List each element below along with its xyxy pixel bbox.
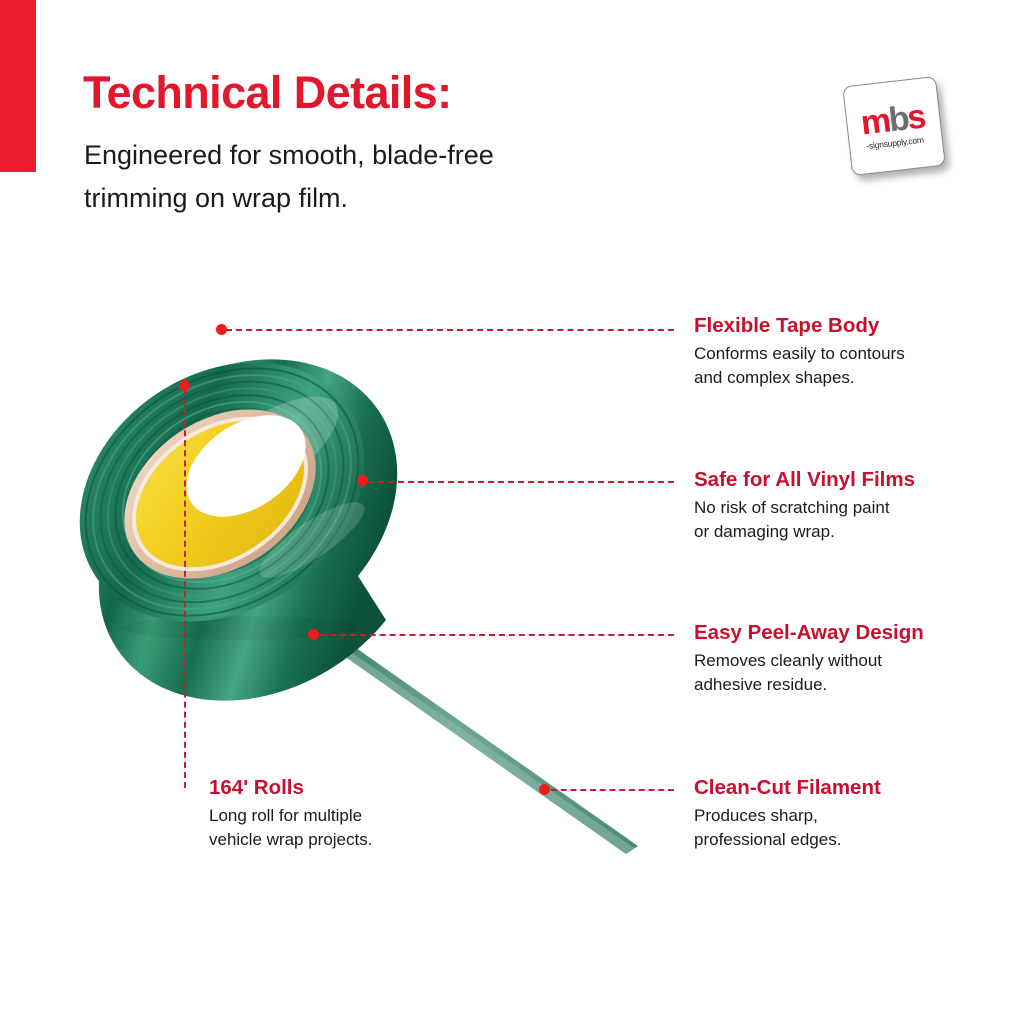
logo-letter-s: s: [905, 97, 926, 137]
callout-body: No risk of scratching paint or damaging …: [694, 496, 994, 544]
page-subtitle: Engineered for smooth, blade-free trimmi…: [84, 134, 604, 219]
leader-dot-safe-for-all-vinyl-films: [357, 475, 368, 486]
leader-dot-164-rolls: [179, 380, 190, 391]
callout-body: Long roll for multiple vehicle wrap proj…: [209, 804, 509, 852]
callout-body-line-1: Produces sharp,: [694, 804, 994, 828]
subtitle-line-2: trimming on wrap film.: [84, 177, 604, 220]
callout-flexible-tape-body: Flexible Tape Body Conforms easily to co…: [694, 314, 994, 390]
callout-body-line-2: and complex shapes.: [694, 366, 994, 390]
callout-body-line-2: professional edges.: [694, 828, 994, 852]
callout-title: Flexible Tape Body: [694, 314, 994, 339]
callout-safe-for-all-vinyl-films: Safe for All Vinyl Films No risk of scra…: [694, 468, 994, 544]
callout-164-rolls: 164' Rolls Long roll for multiple vehicl…: [209, 776, 509, 852]
red-accent-bar: [0, 0, 36, 172]
leader-line-flexible-tape-body: [226, 329, 674, 331]
leader-dot-clean-cut-filament: [539, 784, 550, 795]
callout-title: Safe for All Vinyl Films: [694, 468, 994, 493]
subtitle-line-1: Engineered for smooth, blade-free: [84, 134, 604, 177]
leader-dot-easy-peel-away-design: [308, 629, 319, 640]
callout-clean-cut-filament: Clean-Cut Filament Produces sharp, profe…: [694, 776, 994, 852]
page-title: Technical Details:: [83, 70, 452, 115]
callout-body: Produces sharp, professional edges.: [694, 804, 994, 852]
brand-logo: mbs -signsupply.com: [843, 78, 947, 178]
roll-shadow: [120, 616, 360, 640]
callout-title: Easy Peel-Away Design: [694, 621, 994, 646]
callout-title: Clean-Cut Filament: [694, 776, 994, 801]
infographic-page: Technical Details: Engineered for smooth…: [0, 0, 1024, 1024]
callout-body-line-1: No risk of scratching paint: [694, 496, 994, 520]
callout-body-line-1: Conforms easily to contours: [694, 342, 994, 366]
leader-line-clean-cut-filament: [551, 789, 674, 791]
leader-line-164-rolls: [184, 390, 186, 788]
callout-body-line-2: adhesive residue.: [694, 673, 994, 697]
logo-wordmark: mbs: [859, 102, 925, 139]
leader-line-safe-for-all-vinyl-films: [368, 481, 674, 483]
callout-body: Conforms easily to contours and complex …: [694, 342, 994, 390]
callout-title: 164' Rolls: [209, 776, 509, 801]
callout-body-line-1: Removes cleanly without: [694, 649, 994, 673]
callout-body-line-1: Long roll for multiple: [209, 804, 509, 828]
logo-content: mbs -signsupply.com: [842, 76, 943, 174]
callout-body: Removes cleanly without adhesive residue…: [694, 649, 994, 697]
leader-dot-flexible-tape-body: [216, 324, 227, 335]
leader-line-easy-peel-away-design: [320, 634, 674, 636]
callout-body-line-2: or damaging wrap.: [694, 520, 994, 544]
callout-body-line-2: vehicle wrap projects.: [209, 828, 509, 852]
tape-roll-body: [60, 309, 414, 700]
callout-easy-peel-away-design: Easy Peel-Away Design Removes cleanly wi…: [694, 621, 994, 697]
